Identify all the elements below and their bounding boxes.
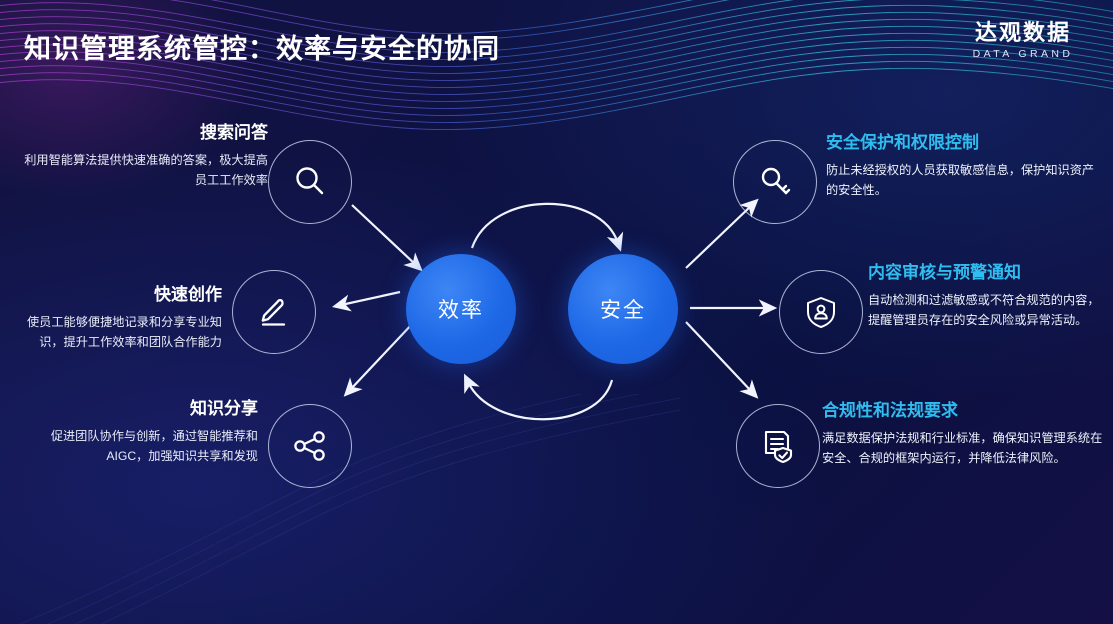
feature-title: 知识分享	[14, 398, 258, 420]
feature-fast-creation: 快速创作 使员工能够便捷地记录和分享专业知识，提升工作效率和团队合作能力	[8, 284, 222, 353]
pencil-edit-icon	[254, 292, 294, 332]
feature-security-permission: 安全保护和权限控制 防止未经授权的人员获取敏感信息，保护知识资产的安全性。	[826, 132, 1098, 201]
hub-label-security: 安全	[600, 294, 646, 324]
hub-label-efficiency: 效率	[438, 294, 484, 324]
feature-content-audit: 内容审核与预警通知 自动检测和过滤敏感或不符合规范的内容，提醒管理员存在的安全风…	[868, 262, 1110, 331]
icon-node-document[interactable]	[736, 404, 820, 488]
feature-title: 安全保护和权限控制	[826, 132, 1098, 154]
page-title: 知识管理系统管控：效率与安全的协同	[24, 27, 500, 66]
hub-circle-security[interactable]: 安全	[568, 254, 678, 364]
arrow-hub-to-doc	[686, 322, 752, 392]
logo-chinese-name: 达观数据	[953, 21, 1093, 45]
feature-title: 快速创作	[8, 284, 222, 306]
feature-title: 内容审核与预警通知	[868, 262, 1110, 284]
feature-description: 利用智能算法提供快速准确的答案，极大提高员工工作效率	[20, 151, 268, 191]
feature-title: 合规性和法规要求	[822, 400, 1108, 422]
arrow-curve-bottom	[468, 380, 612, 419]
document-shield-icon	[758, 426, 798, 466]
hub-circle-efficiency[interactable]: 效率	[406, 254, 516, 364]
feature-title: 搜索问答	[20, 122, 268, 144]
magnifier-icon	[290, 162, 330, 202]
feature-description: 防止未经授权的人员获取敏感信息，保护知识资产的安全性。	[826, 161, 1098, 201]
icon-node-key[interactable]	[733, 140, 817, 224]
feature-search-qa: 搜索问答 利用智能算法提供快速准确的答案，极大提高员工工作效率	[20, 122, 268, 191]
feature-description: 促进团队协作与创新，通过智能推荐和AIGC，加强知识共享和发现	[14, 427, 258, 467]
icon-node-create[interactable]	[232, 270, 316, 354]
feature-knowledge-sharing: 知识分享 促进团队协作与创新，通过智能推荐和AIGC，加强知识共享和发现	[14, 398, 258, 467]
icon-node-shield[interactable]	[779, 270, 863, 354]
share-network-icon	[290, 426, 330, 466]
feature-compliance: 合规性和法规要求 满足数据保护法规和行业标准，确保知识管理系统在安全、合规的框架…	[822, 400, 1108, 469]
feature-description: 自动检测和过滤敏感或不符合规范的内容，提醒管理员存在的安全风险或异常活动。	[868, 291, 1110, 331]
slide-header: 知识管理系统管控：效率与安全的协同 达观数据 DATA GRAND	[0, 0, 1113, 88]
shield-person-icon	[801, 292, 841, 332]
icon-node-search[interactable]	[268, 140, 352, 224]
logo-english-name: DATA GRAND	[953, 48, 1093, 60]
arrow-curve-top	[472, 204, 618, 248]
arrow-hub-to-create	[341, 292, 400, 305]
slide-root: 知识管理系统管控：效率与安全的协同 达观数据 DATA GRAND	[0, 0, 1113, 624]
arrow-hub-to-share	[350, 322, 414, 390]
feature-description: 使员工能够便捷地记录和分享专业知识，提升工作效率和团队合作能力	[8, 313, 222, 353]
feature-description: 满足数据保护法规和行业标准，确保知识管理系统在安全、合规的框架内运行，并降低法律…	[822, 429, 1108, 469]
brand-logo: 达观数据 DATA GRAND	[953, 21, 1093, 60]
arrow-hub-to-key	[686, 205, 752, 268]
arrow-search-to-hub-reverse	[352, 205, 416, 265]
key-icon	[755, 162, 795, 202]
icon-node-share[interactable]	[268, 404, 352, 488]
